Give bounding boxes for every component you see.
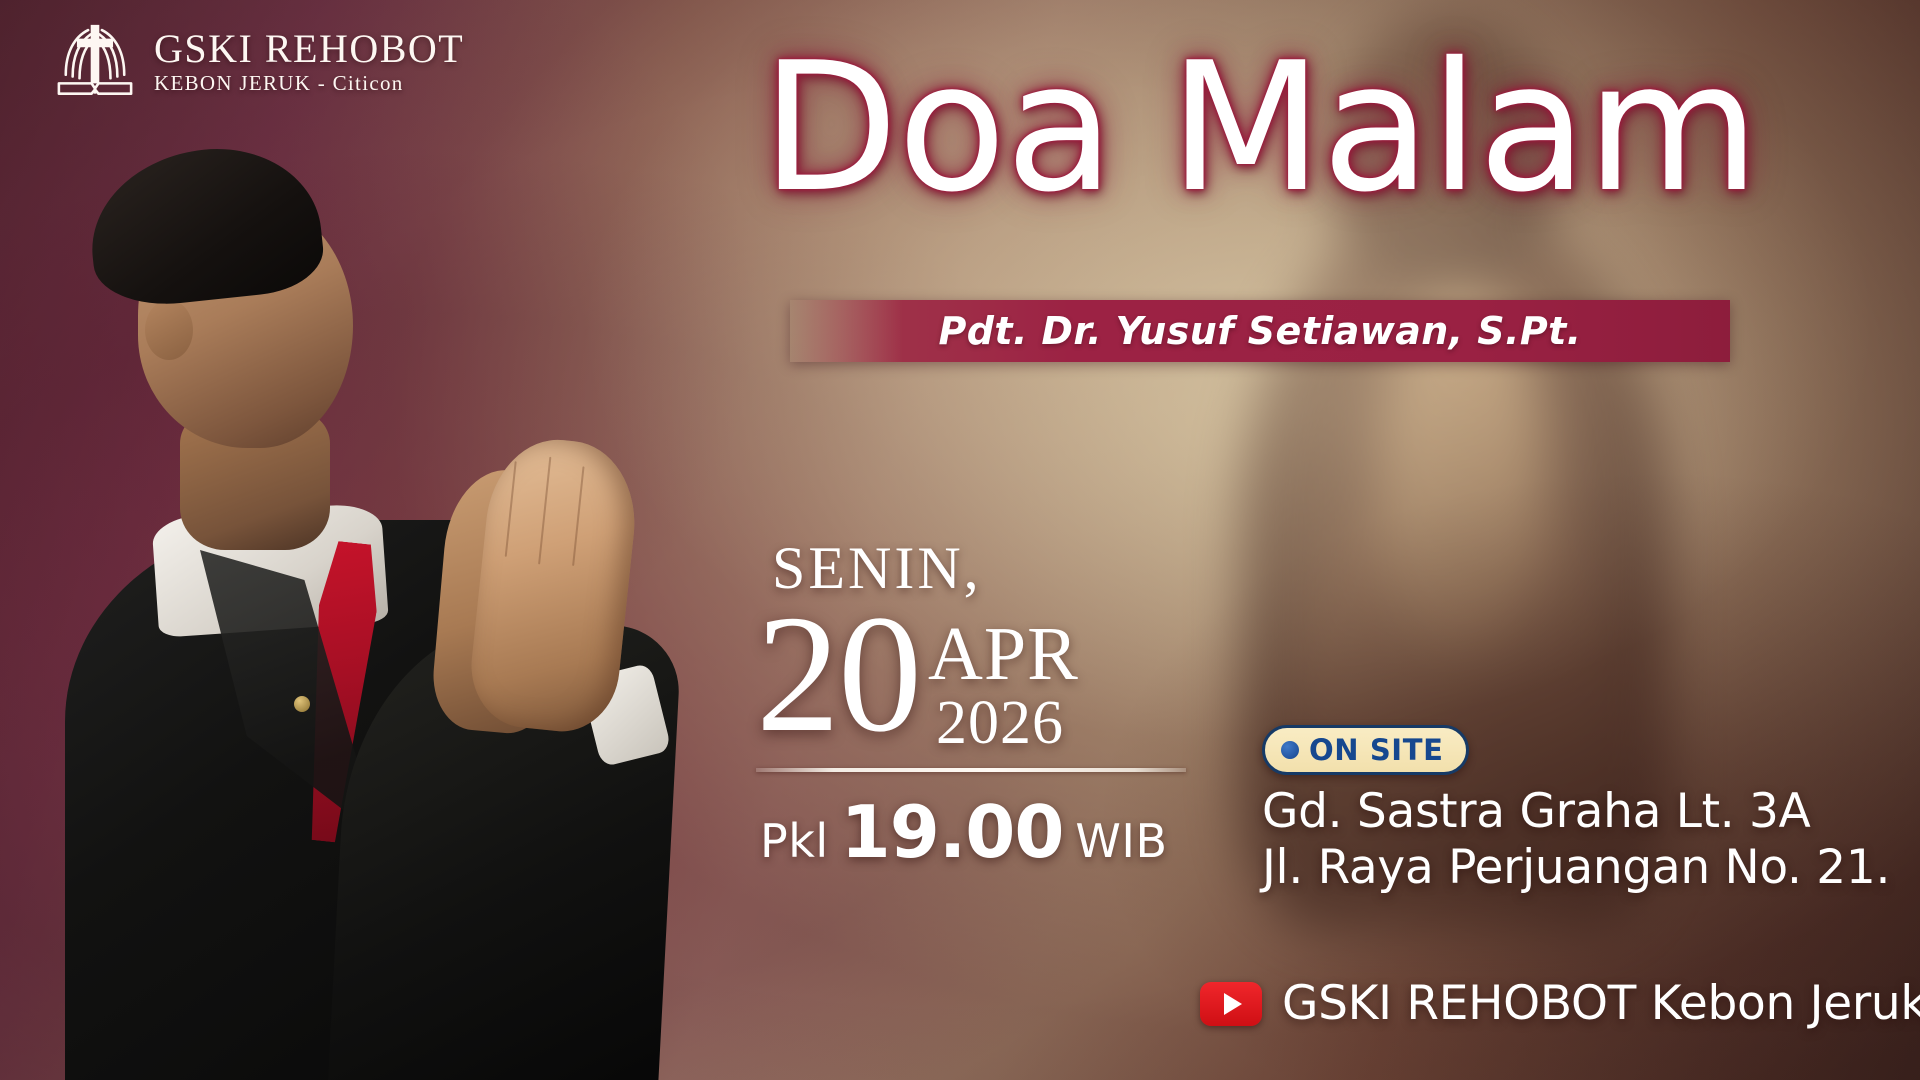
- schedule-block: SENIN, 20 APR 2026 Pkl 19.00 WIB: [756, 538, 1186, 874]
- finger-line: [572, 466, 584, 566]
- venue-block: ON SITE Gd. Sastra Graha Lt. 3A Jl. Raya…: [1262, 725, 1912, 894]
- finger-line: [538, 457, 551, 565]
- logo-branch-name: KEBON JERUK - Citicon: [154, 73, 464, 94]
- play-triangle-icon: [1224, 993, 1242, 1015]
- finger-line: [505, 461, 517, 557]
- schedule-month-year: APR 2026: [928, 620, 1079, 754]
- schedule-divider: [756, 768, 1186, 772]
- venue-street: Jl. Raya Perjuangan No. 21.: [1262, 841, 1912, 895]
- schedule-time: 19.00: [841, 790, 1064, 874]
- schedule-timezone: WIB: [1075, 814, 1167, 868]
- blue-dot-icon: [1281, 741, 1299, 759]
- venue-building: Gd. Sastra Graha Lt. 3A: [1262, 785, 1912, 839]
- cross-over-open-bible-icon: [52, 18, 138, 104]
- schedule-time-row: Pkl 19.00 WIB: [760, 790, 1186, 874]
- schedule-date-number: 20: [756, 602, 920, 746]
- speaker-band: Pdt. Dr. Yusuf Setiawan, S.Pt.: [790, 300, 1730, 362]
- youtube-channel-name: GSKI REHOBOT Kebon Jeruk: [1282, 976, 1920, 1031]
- event-title: Doa Malam: [620, 46, 1900, 210]
- youtube-channel[interactable]: GSKI REHOBOT Kebon Jeruk: [1200, 976, 1920, 1031]
- portrait-lapel-pin: [294, 696, 310, 712]
- schedule-time-prefix: Pkl: [760, 814, 829, 868]
- poster-canvas: GSKI REHOBOT KEBON JERUK - Citicon Doa M…: [0, 0, 1920, 1080]
- on-site-badge: ON SITE: [1262, 725, 1469, 775]
- portrait-ear: [145, 300, 193, 360]
- logo-wordmark: GSKI REHOBOT KEBON JERUK - Citicon: [154, 29, 464, 94]
- speaker-portrait: [10, 150, 650, 1080]
- youtube-play-icon: [1200, 982, 1262, 1026]
- schedule-year: 2026: [936, 692, 1079, 754]
- logo-church-name: GSKI REHOBOT: [154, 29, 464, 69]
- church-logo: GSKI REHOBOT KEBON JERUK - Citicon: [52, 18, 464, 104]
- portrait-hair: [83, 138, 327, 311]
- speaker-name: Pdt. Dr. Yusuf Setiawan, S.Pt.: [939, 309, 1582, 353]
- on-site-badge-label: ON SITE: [1309, 733, 1444, 767]
- schedule-month: APR: [928, 620, 1079, 688]
- schedule-date-row: 20 APR 2026: [756, 602, 1186, 754]
